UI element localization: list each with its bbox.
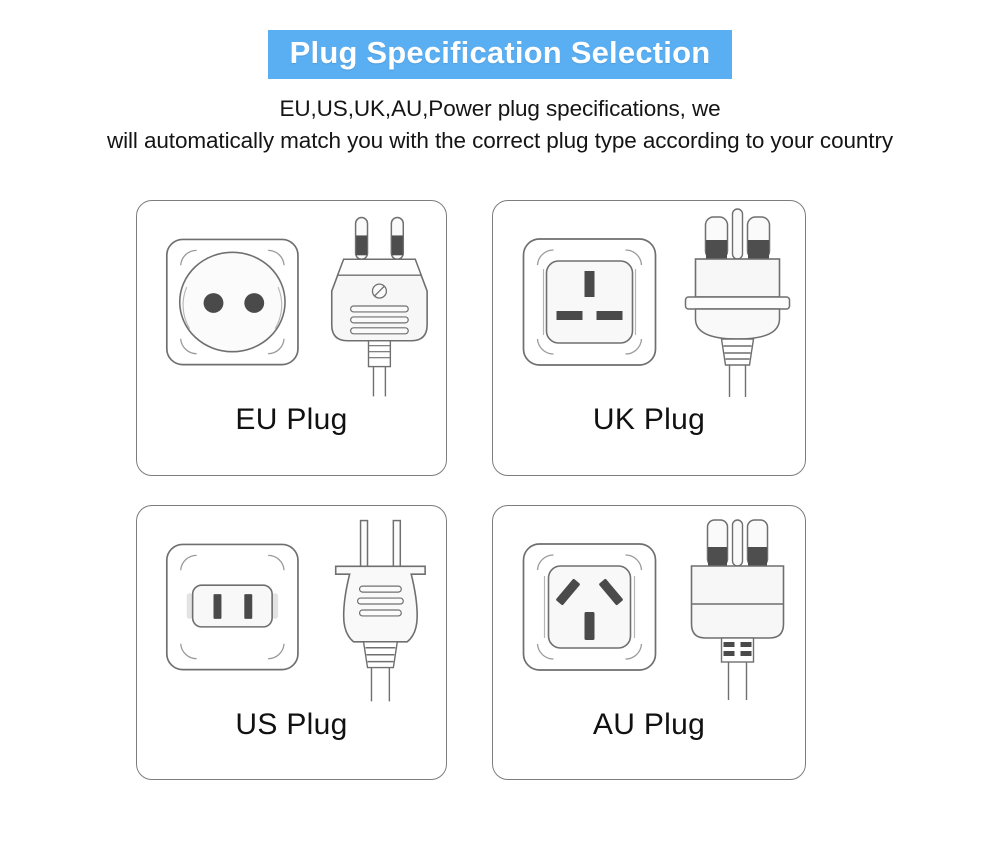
- subtitle-line-1: EU,US,UK,AU,Power plug specifications, w…: [0, 93, 1000, 125]
- page-title: Plug Specification Selection: [268, 30, 733, 79]
- plug-card-uk[interactable]: UK Plug: [492, 200, 806, 476]
- plug-options-grid: EU Plug: [136, 200, 806, 780]
- eu-plug-icon: [332, 218, 427, 397]
- plug-card-us[interactable]: US Plug: [136, 505, 447, 780]
- plug-card-au[interactable]: AU Plug: [492, 505, 806, 780]
- plug-card-label-uk: UK Plug: [593, 403, 705, 437]
- plug-card-eu[interactable]: EU Plug: [136, 200, 447, 476]
- page-header: Plug Specification Selection EU,US,UK,AU…: [0, 0, 1000, 157]
- plug-card-label-eu: EU Plug: [235, 403, 347, 437]
- au-socket-icon: [524, 544, 656, 670]
- plug-card-label-us: US Plug: [235, 708, 347, 742]
- subtitle-line-2: will automatically match you with the co…: [0, 125, 1000, 157]
- us-plug-icon: [336, 521, 425, 702]
- plug-card-label-au: AU Plug: [593, 708, 705, 742]
- eu-plug-illustration: [137, 207, 446, 399]
- page-subtitle: EU,US,UK,AU,Power plug specifications, w…: [0, 93, 1000, 157]
- eu-socket-icon: [167, 239, 298, 364]
- uk-plug-illustration: [493, 207, 805, 399]
- us-socket-icon: [167, 544, 298, 669]
- uk-plug-icon: [686, 209, 790, 397]
- au-plug-illustration: [493, 512, 805, 704]
- au-plug-icon: [692, 520, 784, 700]
- us-plug-illustration: [137, 512, 446, 704]
- uk-socket-icon: [524, 239, 656, 365]
